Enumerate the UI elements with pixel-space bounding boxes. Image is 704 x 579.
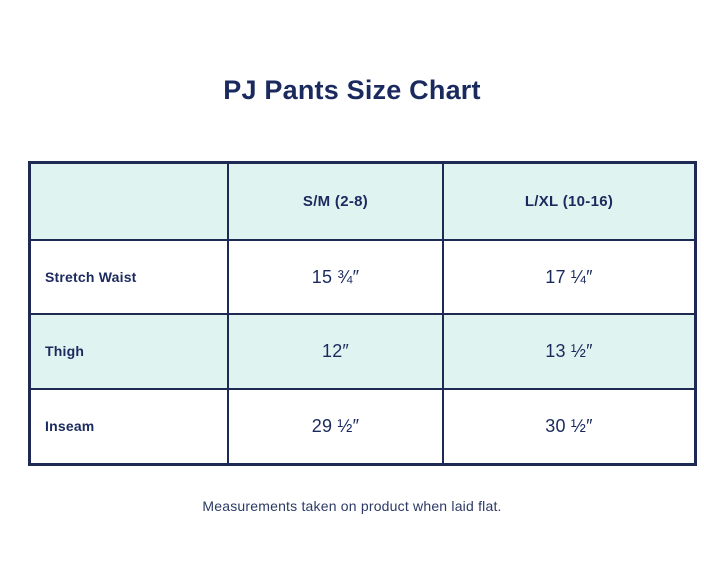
table-row: Stretch Waist 15 ¾″ 17 ¼″ <box>31 240 694 314</box>
table-row: Thigh 12″ 13 ½″ <box>31 314 694 388</box>
table-body: Stretch Waist 15 ¾″ 17 ¼″ Thigh 12″ 13 ½… <box>31 240 694 463</box>
page-title: PJ Pants Size Chart <box>0 74 704 106</box>
table-corner-cell <box>31 164 228 240</box>
column-header-lxl: L/XL (10-16) <box>443 164 694 240</box>
cell-inseam-lxl: 30 ½″ <box>443 389 694 463</box>
cell-thigh-lxl: 13 ½″ <box>443 314 694 388</box>
cell-thigh-sm: 12″ <box>228 314 443 388</box>
table-header-row: S/M (2-8) L/XL (10-16) <box>31 164 694 240</box>
cell-inseam-sm: 29 ½″ <box>228 389 443 463</box>
cell-stretch-waist-lxl: 17 ¼″ <box>443 240 694 314</box>
size-chart-page: PJ Pants Size Chart S/M (2-8) L/XL (10-1… <box>0 0 704 579</box>
column-header-sm: S/M (2-8) <box>228 164 443 240</box>
row-label-stretch-waist: Stretch Waist <box>31 240 228 314</box>
row-label-thigh: Thigh <box>31 314 228 388</box>
table-row: Inseam 29 ½″ 30 ½″ <box>31 389 694 463</box>
size-chart-table: S/M (2-8) L/XL (10-16) Stretch Waist 15 … <box>31 164 694 463</box>
size-chart-table-container: S/M (2-8) L/XL (10-16) Stretch Waist 15 … <box>28 161 697 466</box>
table-header: S/M (2-8) L/XL (10-16) <box>31 164 694 240</box>
cell-stretch-waist-sm: 15 ¾″ <box>228 240 443 314</box>
measurement-footnote: Measurements taken on product when laid … <box>0 498 704 514</box>
row-label-inseam: Inseam <box>31 389 228 463</box>
